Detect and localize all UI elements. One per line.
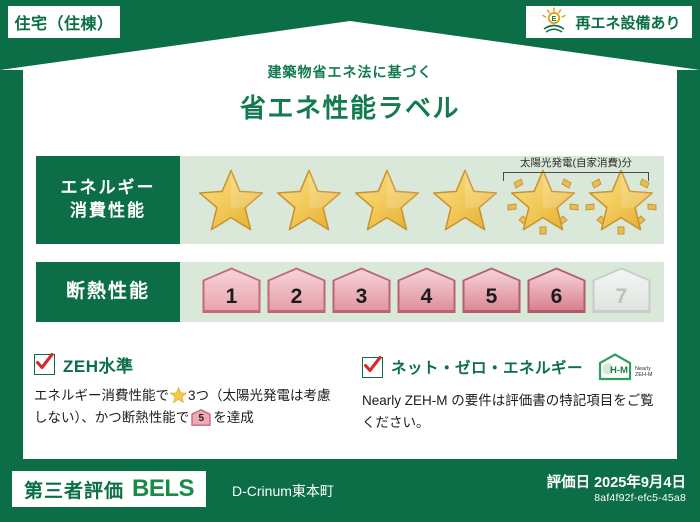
zeh-m-logo: H-M Nearly ZEH-M [597,352,652,382]
star-rating-item [584,161,658,239]
bels-japanese-label: 第三者評価 [24,476,124,503]
nze-heading: ネット・ゼロ・エネルギー H-M Nearly ZEH-M [362,352,664,382]
house-rating-group: 1 2 3 4 5 [180,266,653,318]
energy-rating-area: 太陽光発電(自家消費)分 [180,156,664,244]
energy-performance-label: 住宅（住棟） E 再エネ設備あり 建築物省エネ法に基づく 省エネ性能ラベル [0,0,700,522]
star-icon [170,387,187,403]
star-rating-item [350,161,424,239]
insulation-label: 断熱性能 [66,279,150,305]
star-rating-item [272,161,346,239]
insulation-grade-item: 5 [460,266,523,318]
zeh-standard-section: ZEH水準 エネルギー消費性能で3つ（太陽光発電は考慮しない）、かつ断熱性能で5… [34,352,334,429]
insulation-grade-number: 4 [395,285,458,309]
title-block: 建築物省エネ法に基づく 省エネ性能ラベル [0,62,700,125]
label-footer: 第三者評価 BELS D-Crinum東本町 評価日 2025年9月4日 8af… [0,459,700,522]
house-badge-number: 5 [191,409,211,426]
insulation-grade-number: 2 [265,285,328,309]
energy-label-line1: エネルギー [61,177,156,200]
building-name: D-Crinum東本町 [232,481,334,501]
insulation-performance-row: 断熱性能 1 2 3 [36,262,664,322]
nze-description: Nearly ZEH-M の要件は評価書の特記項目をご覧ください。 [362,390,664,434]
zeh-heading: ZEH水準 [34,352,334,377]
insulation-grade-item: 2 [265,266,328,318]
zeh-m-logo-sub2: ZEH-M [635,373,652,379]
energy-performance-label-box: エネルギー 消費性能 [36,156,180,244]
insulation-grade-number: 7 [590,285,653,309]
bels-chip: 第三者評価 BELS [12,471,206,507]
insulation-grade-item: 1 [200,266,263,318]
nze-checkbox [362,357,383,378]
star-rating-group [180,161,658,239]
nze-title: ネット・ゼロ・エネルギー [391,356,583,378]
insulation-grade-number: 1 [200,285,263,309]
insulation-grade-item: 4 [395,266,458,318]
net-zero-energy-section: ネット・ゼロ・エネルギー H-M Nearly ZEH-M Nearly ZEH… [362,352,664,434]
insulation-grade-number: 5 [460,285,523,309]
zeh-description: エネルギー消費性能で3つ（太陽光発電は考慮しない）、かつ断熱性能で5を達成 [34,385,334,429]
svg-text:H-M: H-M [610,365,628,376]
zeh-desc-part1: エネルギー消費性能で [34,388,169,403]
building-type-label: 住宅（住棟） [14,10,113,34]
insulation-grade-item: 6 [525,266,588,318]
evaluation-date: 評価日 2025年9月4日 [547,471,686,492]
zeh-desc-part3: を達成 [213,410,254,425]
renewable-equipment-label: 再エネ設備あり [575,12,680,33]
insulation-grade-number: 6 [525,285,588,309]
label-subtitle: 建築物省エネ法に基づく [0,62,700,82]
energy-label-line2: 消費性能 [70,200,146,223]
energy-performance-row: エネルギー 消費性能 [36,156,664,244]
evaluation-id: 8af4f92f-efc5-45a8 [594,492,686,504]
star-rating-item [428,161,502,239]
svg-text:E: E [552,16,557,23]
building-type-chip: 住宅（住棟） [8,6,120,38]
insulation-grade-number: 3 [330,285,393,309]
renewable-equipment-chip: E 再エネ設備あり [526,6,692,38]
house-badge-icon: 5 [191,409,211,426]
insulation-rating-area: 1 2 3 4 5 [180,262,664,322]
bels-logo-text: BELS [132,475,194,503]
zeh-title: ZEH水準 [63,352,134,377]
label-title: 省エネ性能ラベル [0,88,700,125]
insulation-grade-item: 3 [330,266,393,318]
sun-energy-icon: E [541,7,569,37]
zeh-checkbox [34,354,55,375]
insulation-grade-item: 7 [590,266,653,318]
star-rating-item [506,161,580,239]
star-rating-item [194,161,268,239]
insulation-performance-label-box: 断熱性能 [36,262,180,322]
